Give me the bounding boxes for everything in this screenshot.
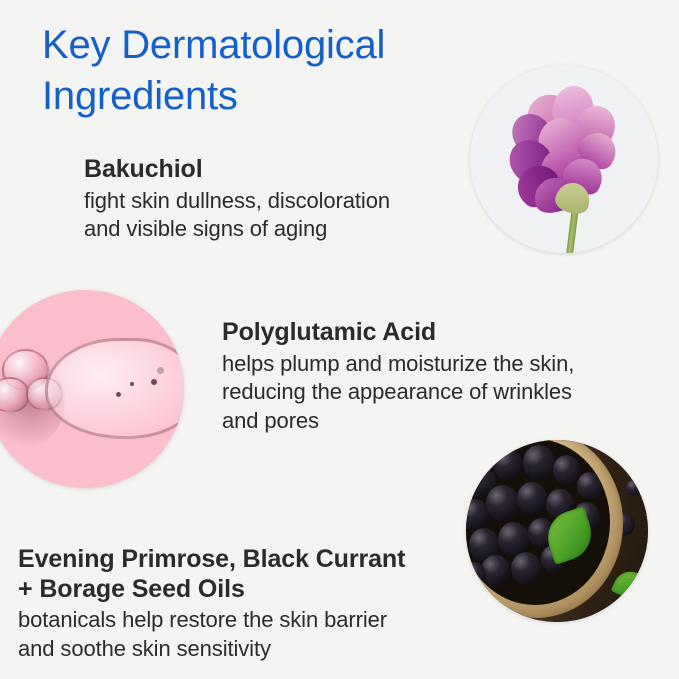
ingredient-block-seed-oils: Evening Primrose, Black Currant + Borage… <box>18 545 478 663</box>
bowl-interior <box>466 440 610 605</box>
infographic-page: Key Dermatological Ingredients Bakuchiol… <box>0 0 679 679</box>
ingredient-name: Evening Primrose, Black Currant + Borage… <box>18 545 478 604</box>
ingredient-description: helps plump and moisturize the skin, red… <box>222 350 642 436</box>
ingredient-block-bakuchiol: Bakuchiol fight skin dullness, discolora… <box>84 155 484 244</box>
page-title: Key Dermatological Ingredients <box>42 20 502 122</box>
ingredient-description: botanicals help restore the skin barrier… <box>18 606 478 663</box>
ingredient-description: fight skin dullness, discoloration and v… <box>84 187 484 244</box>
ingredient-name: Polyglutamic Acid <box>222 318 642 348</box>
ingredient-name: Bakuchiol <box>84 155 484 185</box>
black-currant-bowl-photo <box>466 440 648 622</box>
gel-blob-shape <box>45 338 184 439</box>
flower-illustration <box>470 65 658 253</box>
berry-shape <box>626 480 642 496</box>
ingredient-block-polyglutamic-acid: Polyglutamic Acid helps plump and moistu… <box>222 318 642 435</box>
gel-serum-photo <box>0 290 184 488</box>
babchi-flower-photo <box>470 65 658 253</box>
